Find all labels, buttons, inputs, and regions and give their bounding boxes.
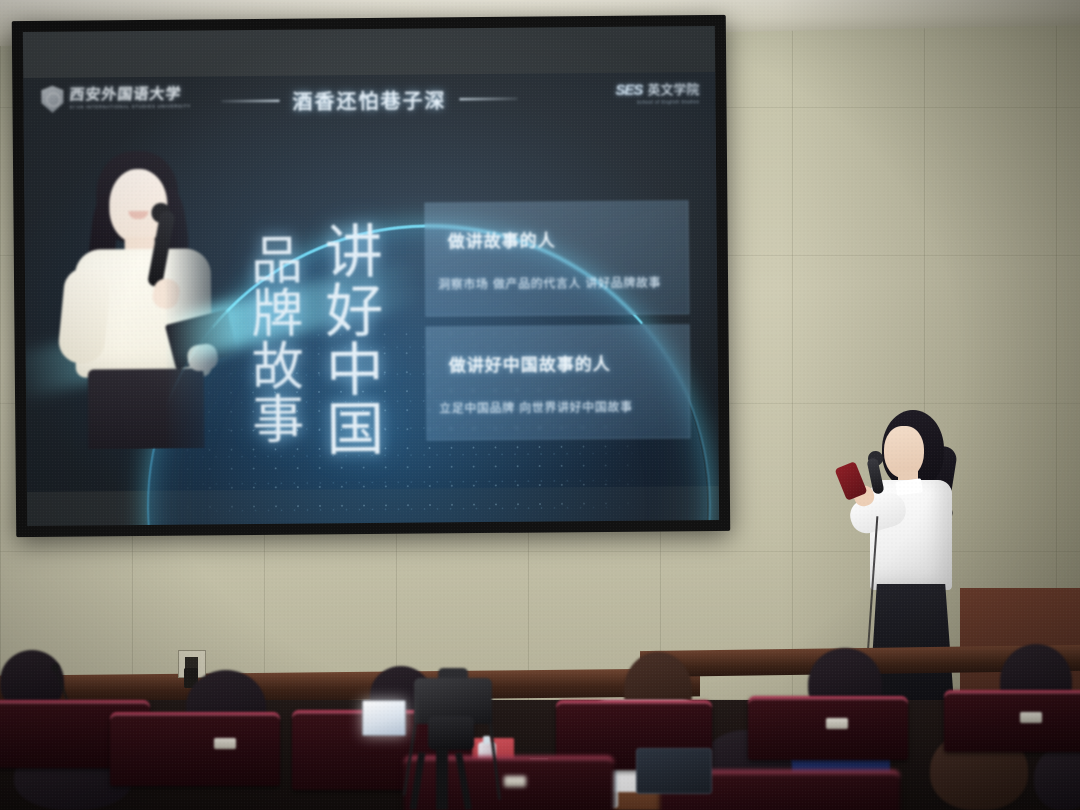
- department-logo: SES 英文学院 School of English Studies: [615, 82, 699, 105]
- university-name-en: XI'AN INTERNATIONAL STUDIES UNIVERSITY: [70, 105, 191, 110]
- shield-crest-icon: [41, 86, 63, 113]
- tablet-device[interactable]: [636, 748, 712, 794]
- lecture-hall-photo: 品 牌 故 事 讲 好 中 国 做讲故事的人 洞察市场 做产品的代言人 讲好品牌…: [0, 0, 1080, 810]
- vchar-right-1: 好: [325, 282, 384, 342]
- audience-seat[interactable]: [944, 690, 1080, 752]
- slide-point-subtitle-2: 立足中国品牌 向世界讲好中国故事: [439, 398, 633, 417]
- slide-title-group: 酒香还怕巷子深: [221, 84, 517, 116]
- audience-seat[interactable]: [110, 712, 280, 786]
- slide-title: 酒香还怕巷子深: [292, 84, 446, 114]
- seat-number-plate: [214, 738, 236, 749]
- audience-seat[interactable]: [748, 696, 908, 760]
- vchar-left-2: 故: [252, 342, 304, 395]
- photo-hand-second: [186, 342, 220, 372]
- slide-point-subtitle-1: 洞察市场 做产品的代言人 讲好品牌故事: [438, 273, 661, 292]
- department-name-en: School of English Studies: [637, 100, 700, 105]
- seat-number-plate: [504, 776, 526, 787]
- vchar-right-3: 国: [326, 400, 385, 460]
- vertical-headline-left: 品 牌 故 事: [251, 236, 305, 449]
- projection-screen-frame: 品 牌 故 事 讲 好 中 国 做讲故事的人 洞察市场 做产品的代言人 讲好品牌…: [12, 15, 730, 537]
- tripod-leg: [436, 748, 448, 810]
- presentation-slide: 品 牌 故 事 讲 好 中 国 做讲故事的人 洞察市场 做产品的代言人 讲好品牌…: [23, 72, 719, 492]
- slide-point-title-2: 做讲好中国故事的人: [449, 350, 611, 376]
- vchar-right-2: 中: [326, 341, 385, 401]
- title-rule-left: [221, 99, 279, 102]
- slide-point-title-1: 做讲故事的人: [448, 226, 556, 252]
- slide-point-box-2: 做讲好中国故事的人 立足中国品牌 向世界讲好中国故事: [425, 324, 690, 440]
- university-name-cn: 西安外国语大学: [69, 87, 192, 103]
- department-mark: SES: [615, 83, 642, 98]
- seat-number-plate: [1020, 712, 1042, 723]
- seat-number-plate: [826, 718, 848, 729]
- camera-lcd-screen[interactable]: [362, 700, 406, 736]
- vchar-left-1: 牌: [251, 289, 303, 342]
- vertical-headline-right: 讲 好 中 国: [325, 223, 385, 460]
- university-logo: 西安外国语大学 XI'AN INTERNATIONAL STUDIES UNIV…: [41, 85, 191, 113]
- photo-skirt: [88, 368, 205, 449]
- title-rule-right: [459, 97, 517, 100]
- slide-point-box-1: 做讲故事的人 洞察市场 做产品的代言人 讲好品牌故事: [424, 200, 689, 316]
- projection-screen: 品 牌 故 事 讲 好 中 国 做讲故事的人 洞察市场 做产品的代言人 讲好品牌…: [23, 26, 719, 526]
- slide-speaker-photo: [52, 148, 240, 450]
- vchar-right-0: 讲: [325, 223, 384, 283]
- vchar-left-0: 品: [251, 236, 303, 289]
- slide-header: 西安外国语大学 XI'AN INTERNATIONAL STUDIES UNIV…: [23, 72, 715, 128]
- vchar-left-3: 事: [252, 395, 304, 448]
- department-name-cn: 英文学院: [647, 84, 699, 97]
- camera-lens: [428, 716, 474, 750]
- audience-head: [1034, 746, 1080, 810]
